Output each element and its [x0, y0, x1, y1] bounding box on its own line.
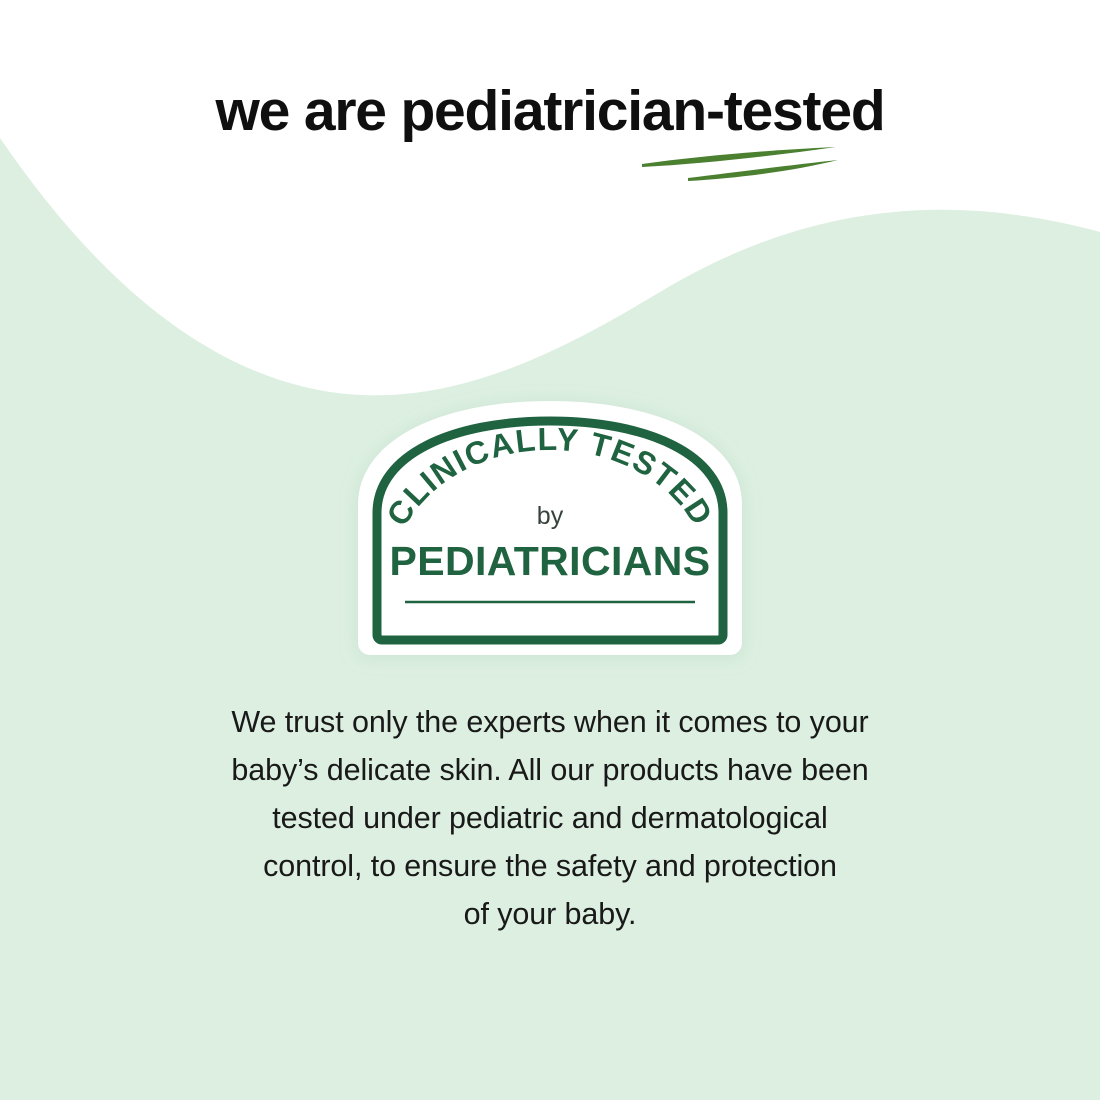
body-line-3: tested under pediatric and dermatologica… [150, 794, 950, 842]
badge-graphic: CLINICALLY TESTED by PEDIATRICIANS [350, 395, 750, 657]
badge-main-text: PEDIATRICIANS [389, 538, 710, 584]
badge-by-text: by [537, 502, 564, 530]
body-line-4: control, to ensure the safety and protec… [150, 842, 950, 890]
page-title: we are pediatrician-tested [0, 82, 1100, 142]
body-line-1: We trust only the experts when it comes … [150, 698, 950, 746]
heading-block: we are pediatrician-tested [0, 82, 1100, 142]
promo-card: we are pediatrician-tested CLIN [0, 0, 1100, 1100]
body-copy: We trust only the experts when it comes … [150, 698, 950, 938]
clinically-tested-badge: CLINICALLY TESTED by PEDIATRICIANS [350, 395, 750, 657]
underline-flourish-icon [640, 146, 840, 182]
body-line-2: baby’s delicate skin. All our products h… [150, 746, 950, 794]
body-line-5: of your baby. [150, 890, 950, 938]
